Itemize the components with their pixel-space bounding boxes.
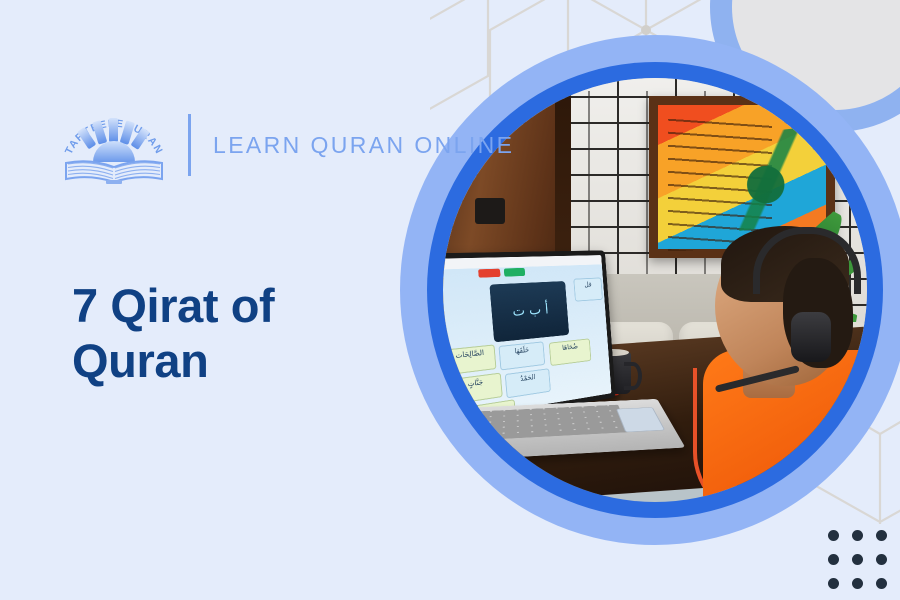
dot bbox=[828, 530, 839, 541]
dot bbox=[852, 554, 863, 565]
promo-banner: أ ب ت قل الصَّالِحَات خَلَقَهَا bbox=[0, 0, 900, 600]
page-title: 7 Qirat of Quran bbox=[72, 278, 402, 389]
laptop-keyboard bbox=[443, 399, 685, 462]
laptop: أ ب ت قل الصَّالِحَات خَلَقَهَا bbox=[443, 252, 679, 482]
brand-logo[interactable]: TARTEELEQURAN bbox=[62, 104, 514, 186]
dot bbox=[852, 578, 863, 589]
lesson-video-text: أ ب ت bbox=[489, 281, 569, 342]
dot bbox=[828, 554, 839, 565]
dots-grid-decoration bbox=[828, 530, 887, 589]
dot bbox=[876, 554, 887, 565]
dot bbox=[852, 530, 863, 541]
headline-line-1: 7 Qirat of bbox=[72, 278, 402, 333]
dot bbox=[876, 530, 887, 541]
dot bbox=[876, 578, 887, 589]
dot bbox=[828, 578, 839, 589]
tagline: LEARN QURAN ONLINE bbox=[213, 132, 514, 159]
student-with-headset bbox=[687, 228, 867, 502]
laptop-screen: أ ب ت قل الصَّالِحَات خَلَقَهَا bbox=[443, 255, 611, 422]
open-book-sunrise-icon: TARTEELEQURAN bbox=[62, 104, 166, 186]
door-lock-icon bbox=[475, 198, 505, 224]
lesson-video-tile: أ ب ت bbox=[489, 281, 569, 342]
headline-line-2: Quran bbox=[72, 333, 402, 388]
logo-divider bbox=[188, 114, 191, 176]
